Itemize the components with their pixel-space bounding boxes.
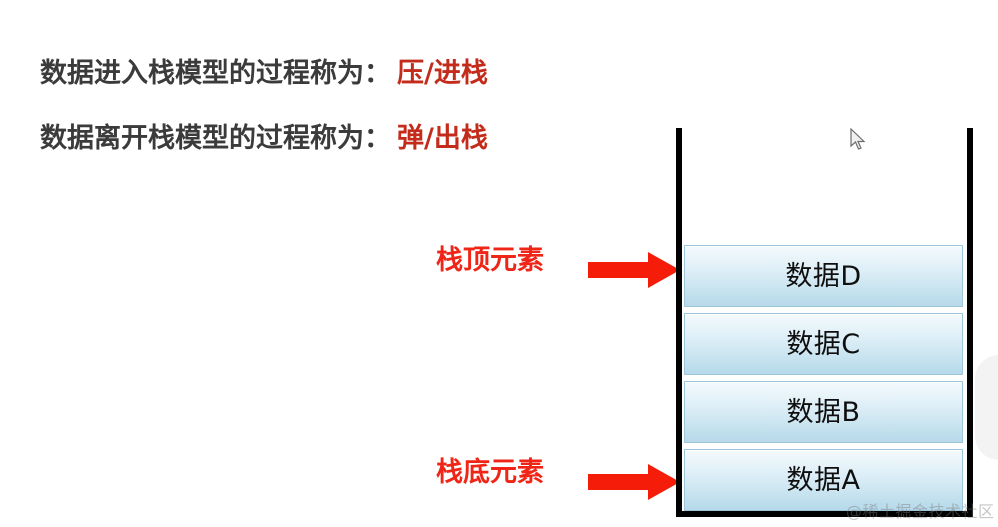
stack-item-label: 数据D [785,263,861,290]
mouse-cursor-icon [850,128,866,152]
stack-item-label: 数据C [786,331,860,358]
stack-item[interactable]: 数据D [684,245,963,307]
heading-push-text: 数据进入栈模型的过程称为： [40,58,391,89]
watermark: @稀土掘金技术社区 [846,498,995,522]
heading-pop-text: 数据离开栈模型的过程称为： [40,123,391,154]
heading-push-emphasis: 压/进栈 [397,58,488,89]
stack-item[interactable]: 数据B [684,381,963,443]
heading-pop-emphasis: 弹/出栈 [397,123,488,154]
stack-model-diagram: 数据进入栈模型的过程称为：压/进栈 数据离开栈模型的过程称为：弹/出栈 栈顶元素… [0,0,998,527]
edge-artifact [975,355,998,460]
stack-wall-right [967,128,973,517]
stack-item-label: 数据B [786,399,860,426]
stack-item-list: 数据D 数据C 数据B 数据A [684,245,963,511]
label-stack-top: 栈顶元素 [436,247,544,274]
stack-wall-left [676,128,682,517]
label-stack-bottom: 栈底元素 [436,459,544,486]
arrow-right-icon-bottom [588,462,680,502]
heading-push: 数据进入栈模型的过程称为：压/进栈 [40,60,488,87]
stack-container: 数据D 数据C 数据B 数据A [676,128,973,517]
stack-item-label: 数据A [787,467,861,494]
arrow-right-icon-top [588,250,680,290]
stack-item[interactable]: 数据C [684,313,963,375]
heading-pop: 数据离开栈模型的过程称为：弹/出栈 [40,125,488,152]
